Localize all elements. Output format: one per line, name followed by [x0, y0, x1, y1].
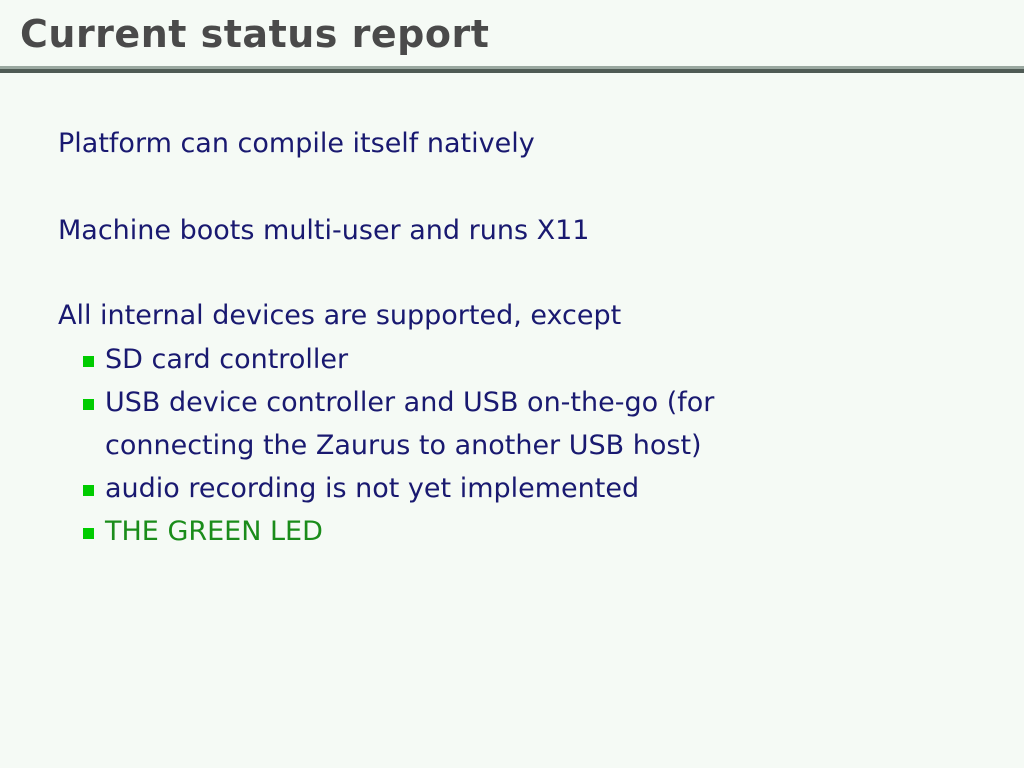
- list-item: SD card controller: [58, 338, 978, 381]
- list-item-label: THE GREEN LED: [105, 510, 835, 553]
- page-title: Current status report: [20, 11, 489, 57]
- list-item: THE GREEN LED: [58, 510, 978, 553]
- paragraph-spacer-1: [58, 162, 978, 213]
- slide-body: Platform can compile itself natively Mac…: [58, 126, 978, 553]
- square-bullet-icon: [83, 485, 94, 496]
- title-divider-bottom-line: [0, 69, 1024, 73]
- list-item-label: SD card controller: [105, 338, 835, 381]
- square-bullet-icon: [83, 399, 94, 410]
- list-item: audio recording is not yet implemented: [58, 467, 978, 510]
- body-paragraph-3: All internal devices are supported, exce…: [58, 298, 978, 334]
- slide-title-area: Current status report: [0, 0, 1024, 72]
- list-item-label: audio recording is not yet implemented: [105, 467, 835, 510]
- square-bullet-icon: [83, 356, 94, 367]
- title-divider: [0, 66, 1024, 73]
- exception-bullet-list: SD card controller USB device controller…: [58, 338, 978, 553]
- slide-canvas: Current status report Platform can compi…: [0, 0, 1024, 768]
- list-item-label: USB device controller and USB on-the-go …: [105, 381, 835, 467]
- list-item: USB device controller and USB on-the-go …: [58, 381, 978, 467]
- paragraph-spacer-2: [58, 249, 978, 298]
- body-paragraph-2: Machine boots multi-user and runs X11: [58, 213, 978, 249]
- square-bullet-icon: [83, 528, 94, 539]
- body-paragraph-1: Platform can compile itself natively: [58, 126, 978, 162]
